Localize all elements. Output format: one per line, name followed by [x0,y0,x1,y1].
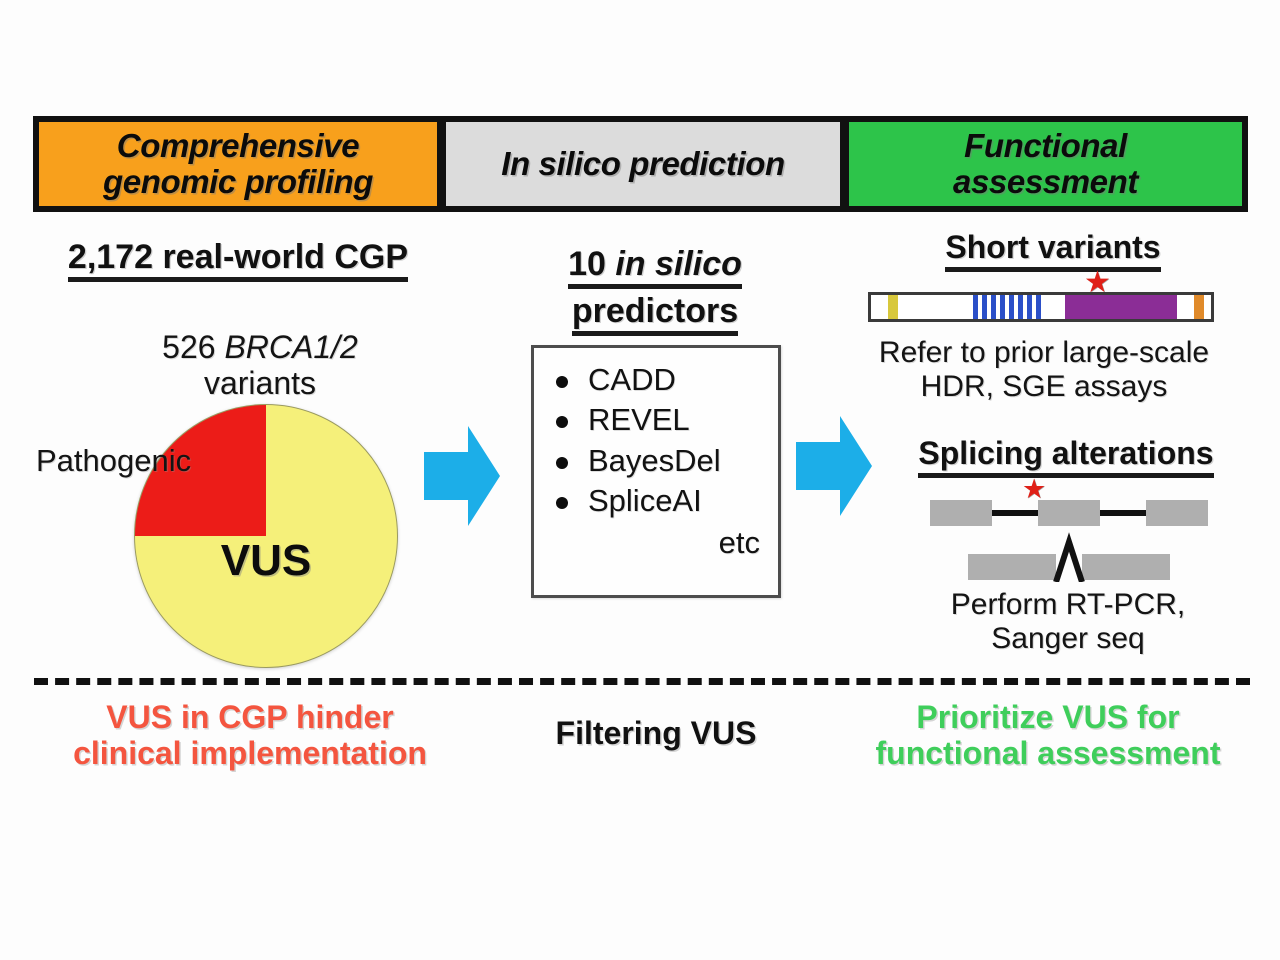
cgp-cohort-title-text: 2,172 real-world CGP [68,238,408,282]
short-variants-caption: Refer to prior large-scale HDR, SGE assa… [854,336,1234,403]
predictor-name: SpliceAI [588,483,702,518]
domain-yellow-motif [888,295,898,319]
exon-skip-caret-icon [1056,542,1082,582]
splicing-alterations-title: Splicing alterations [886,436,1246,478]
conclusion-left-line1: VUS in CGP hinder [106,699,393,735]
repeat-stripe [1036,295,1041,319]
predictor-name: BayesDel [588,443,721,478]
list-item: REVEL [552,400,764,440]
list-item: CADD [552,360,764,400]
exon-box [968,554,1056,580]
domain-blue-repeats [973,295,1041,319]
isp-title-line1: 10 in silico [520,245,790,289]
exon-box [1146,500,1208,526]
predictor-name: CADD [588,362,676,397]
arrow-shape-1 [424,426,500,526]
graphical-abstract: Comprehensive genomic profiling In silic… [0,0,1280,960]
header-cell-functional-assessment: Functional assessment [846,119,1245,209]
repeat-stripe [1009,295,1014,319]
header-cgp-line2: genomic profiling [103,163,373,200]
splicing-schematic [930,492,1220,582]
in-silico-predictors-title: 10 in silico predictors [520,245,790,336]
repeat-stripe [1027,295,1032,319]
conclusion-right: Prioritize VUS for functional assessment [846,700,1250,772]
header-funcass-text: Functional assessment [953,128,1138,199]
isp-count: 10 [568,245,615,283]
conclusion-middle: Filtering VUS [520,716,792,752]
conclusion-left: VUS in CGP hinder clinical implementatio… [36,700,464,772]
header-cell-in-silico-prediction: In silico prediction [443,119,843,209]
domain-purple [1065,295,1177,319]
domain-orange-motif [1194,295,1204,319]
intron-line [1100,510,1146,516]
header-funcass-line1: Functional [964,127,1127,164]
conclusion-right-line2: functional assessment [876,735,1221,771]
cgp-variant-subtitle: 526 BRCA1/2 variants [110,330,410,402]
short-variants-title-text: Short variants [945,230,1160,272]
exon-box [1038,500,1100,526]
header-insilico-text: In silico prediction [501,146,785,182]
list-item: SpliceAI [552,481,764,521]
predictor-list: CADD REVEL BayesDel SpliceAI [552,360,764,521]
isp-title-line1-underline: 10 in silico [568,245,742,289]
header-cgp-text: Comprehensive genomic profiling [103,128,373,199]
intron-line [992,510,1038,516]
header-funcass-line2: assessment [953,163,1138,200]
sp-caption-line1: Perform RT-PCR, [951,588,1185,621]
splicing-alterations-title-text: Splicing alterations [918,436,1213,478]
exon-box [1082,554,1170,580]
workflow-header-band: Comprehensive genomic profiling In silic… [33,116,1248,212]
dashed-divider [34,678,1250,685]
repeat-stripe [982,295,987,319]
splicing-schematic-svg [930,492,1220,582]
conclusion-left-line2: clinical implementation [73,735,427,771]
cgp-variant-word: variants [204,365,316,401]
exon-box [930,500,992,526]
flow-arrow-right-1 [424,424,500,528]
isp-in-silico: in silico [615,245,742,283]
repeat-stripe [991,295,996,319]
conclusion-right-line1: Prioritize VUS for [916,699,1179,735]
header-cgp-line1: Comprehensive [117,127,359,164]
predictor-etc-label: etc [552,525,764,561]
sp-caption-line2: Sanger seq [991,622,1144,655]
repeat-stripe [1000,295,1005,319]
cgp-cohort-title: 2,172 real-world CGP [40,238,436,282]
flow-arrow-right-2 [796,414,872,518]
splicing-caption: Perform RT-PCR, Sanger seq [898,588,1238,655]
sv-caption-line1: Refer to prior large-scale [879,336,1209,369]
cgp-variant-count: 526 [162,329,224,365]
list-item: BayesDel [552,441,764,481]
pie-slice-label-pathogenic: Pathogenic [36,444,266,479]
repeat-stripe [1018,295,1023,319]
arrow-shape-2 [796,416,872,516]
isp-predictors-word: predictors [572,292,738,336]
cgp-gene-name: BRCA1/2 [224,329,357,365]
protein-domain-track [868,292,1214,322]
short-variants-title: Short variants [878,230,1228,272]
header-cell-comprehensive-genomic-profiling: Comprehensive genomic profiling [36,119,440,209]
predictor-name: REVEL [588,402,690,437]
isp-title-line2: predictors [520,292,790,336]
sv-caption-line2: HDR, SGE assays [921,370,1168,403]
predictor-list-box: CADD REVEL BayesDel SpliceAI etc [531,345,781,598]
repeat-stripe [973,295,978,319]
